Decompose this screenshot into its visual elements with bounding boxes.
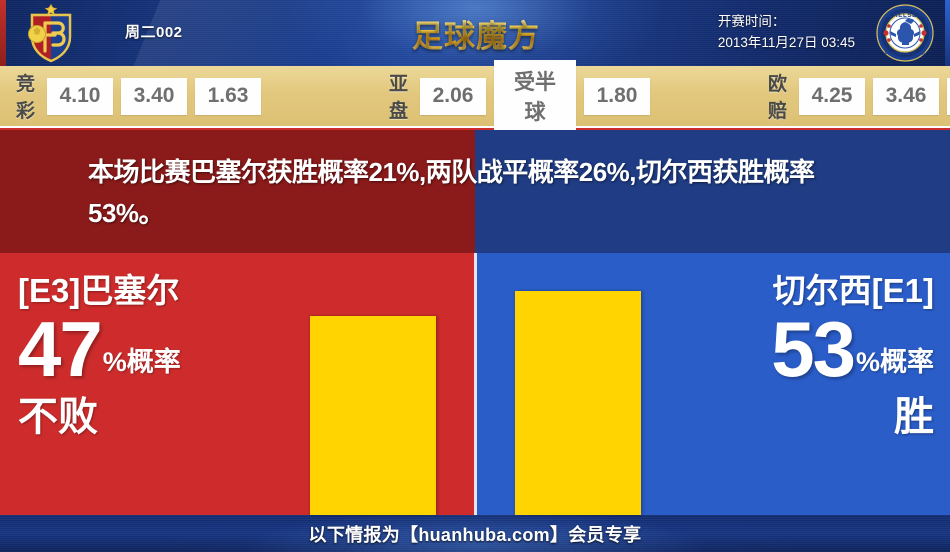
odds-bar: 竞彩 4.10 3.40 1.63 亚盘 2.06 受半球 1.80 欧赔 4.… [0, 66, 950, 128]
home-outcome-label: 不败 [18, 393, 181, 441]
svg-text:CHELSEA: CHELSEA [888, 12, 922, 19]
odds-group-label: 欧赔 [768, 69, 788, 123]
probability-chart: [E3]巴塞尔 47 %概率 不败 切尔西[E1] 53 %概率 胜 [0, 253, 950, 515]
summary-text: 本场比赛巴塞尔获胜概率21%,两队战平概率26%,切尔西获胜概率53%。 [88, 152, 878, 234]
odds-cell-home[interactable]: 2.06 [420, 78, 486, 115]
chelsea-crest-icon: CHELSEA FOOTBALL CLUB [876, 4, 934, 62]
header-left-accent-stripe [0, 0, 6, 66]
brand-logo: 足球魔方 [400, 8, 552, 58]
match-probability-infographic: 周二002 足球魔方 开赛时间： 2013年11月27日 03:45 [0, 0, 950, 552]
basel-crest-icon [20, 3, 82, 63]
svg-text:FOOTBALL CLUB: FOOTBALL CLUB [885, 51, 926, 56]
odds-cell-home[interactable]: 4.10 [47, 78, 113, 115]
kickoff-label: 开赛时间： [718, 11, 855, 32]
away-team-panel: 切尔西[E1] 53 %概率 胜 [477, 253, 950, 515]
odds-cell-home[interactable]: 4.25 [799, 78, 865, 115]
home-percent-row: 47 %概率 [18, 313, 181, 385]
header-bar: 周二002 足球魔方 开赛时间： 2013年11月27日 03:45 [0, 0, 950, 66]
footer-text: 以下情报为【huanhuba.com】会员专享 [309, 521, 642, 547]
away-percent-row: 53 %概率 [771, 313, 934, 385]
home-team-stats: [E3]巴塞尔 47 %概率 不败 [18, 271, 181, 441]
odds-group-label: 竞彩 [16, 69, 36, 123]
odds-group-jingcai: 竞彩 4.10 3.40 1.63 [16, 69, 261, 123]
odds-cell-away[interactable]: 1.80 [584, 78, 650, 115]
brand-logo-text: 足球魔方 [412, 11, 540, 56]
odds-cell-handicap[interactable]: 受半球 [494, 60, 576, 133]
header-right-accent-stripe [945, 0, 950, 66]
away-percent-suffix: %概率 [856, 345, 934, 385]
home-percent-suffix: %概率 [103, 345, 181, 385]
away-probability-bar [515, 291, 641, 515]
odds-cell-away[interactable]: 1.63 [195, 78, 261, 115]
away-outcome-label: 胜 [771, 393, 934, 441]
footer-bar: 以下情报为【huanhuba.com】会员专享 [0, 515, 950, 552]
odds-cell-draw[interactable]: 3.40 [121, 78, 187, 115]
away-team-stats: 切尔西[E1] 53 %概率 胜 [771, 271, 934, 441]
odds-group-label: 亚盘 [389, 69, 409, 123]
kickoff-info: 开赛时间： 2013年11月27日 03:45 [718, 11, 855, 53]
home-team-panel: [E3]巴塞尔 47 %概率 不败 [0, 253, 474, 515]
home-percent-value: 47 [18, 313, 101, 385]
match-number: 周二002 [125, 21, 183, 42]
odds-cell-draw[interactable]: 3.46 [873, 78, 939, 115]
odds-group-yapan: 亚盘 2.06 受半球 1.80 [389, 60, 650, 133]
home-probability-bar [310, 316, 436, 515]
away-percent-value: 53 [771, 313, 854, 385]
kickoff-value: 2013年11月27日 03:45 [718, 32, 855, 53]
probability-summary-banner: 本场比赛巴塞尔获胜概率21%,两队战平概率26%,切尔西获胜概率53%。 [0, 130, 950, 253]
odds-group-oupei: 欧赔 4.25 3.46 1.84 [768, 69, 950, 123]
